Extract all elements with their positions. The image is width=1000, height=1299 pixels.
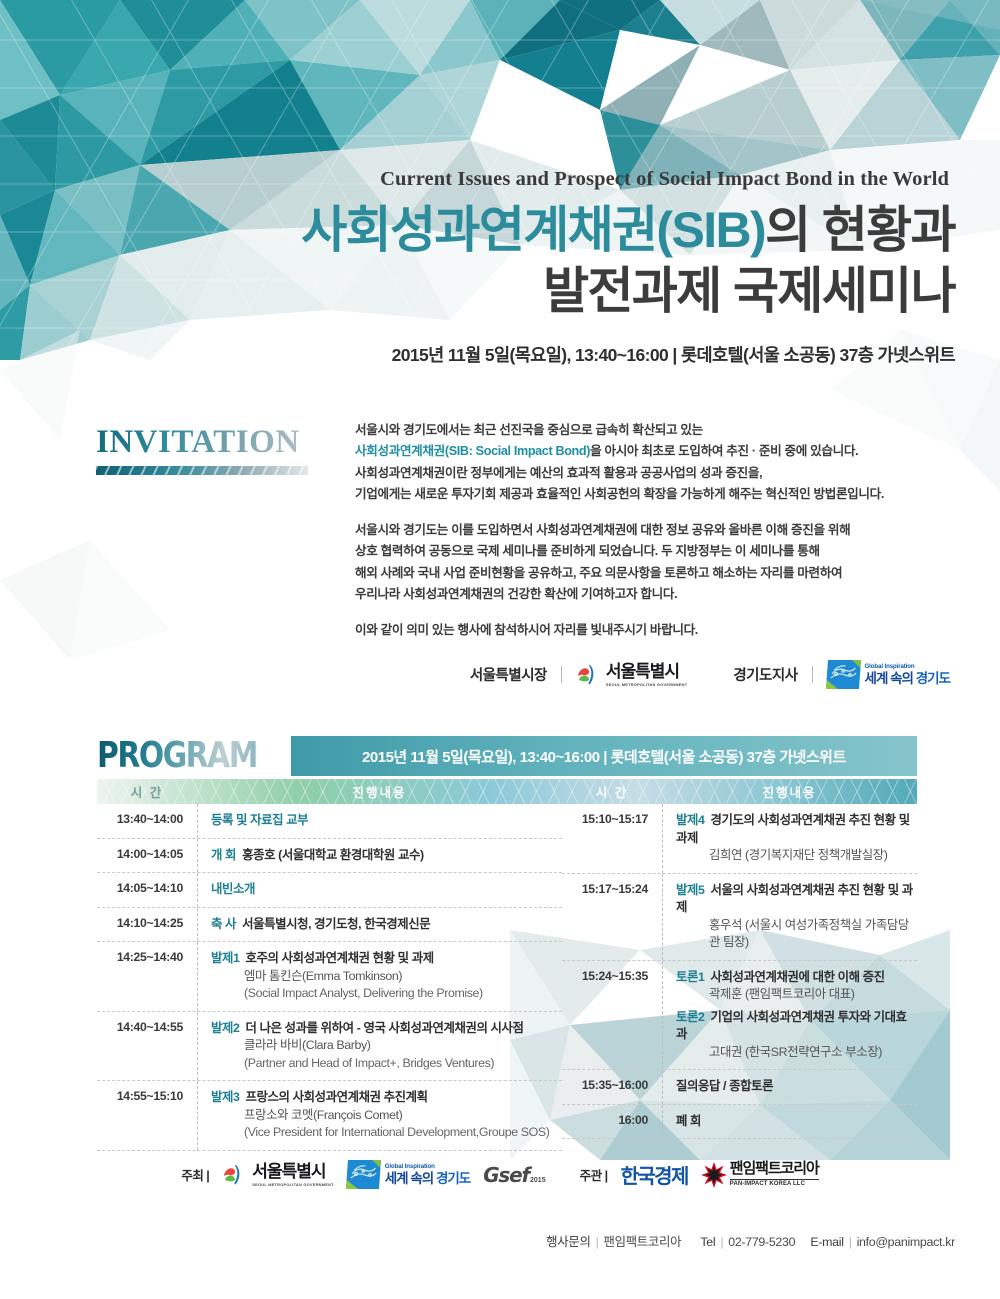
gyeonggi-logo-kr: 세계 속의 경기도 [865, 672, 950, 686]
program-row-title: 호주의 사회성과연계채권 현황 및 과제 [246, 951, 434, 965]
program-row: 15:35~16:00질의응답 / 종합토론 [562, 1070, 917, 1105]
event-datetime-venue: 2015년 11월 5일(목요일), 13:40~16:00 | 롯데호텔(서울… [0, 342, 955, 367]
col-header-content-left: 진행내용 [197, 782, 562, 801]
program-row-lead-2: 토론2 [676, 1010, 708, 1024]
program-row: 13:40~14:00등록 및 자료집 교부 [97, 804, 562, 839]
inv-p2-l1: 서울시와 경기도는 이를 도입하면서 사회성과연계채권에 대한 정보 공유와 올… [355, 523, 850, 537]
program-row: 14:25~14:40발제1 호주의 사회성과연계채권 현황 및 과제엠마 톰킨… [97, 942, 562, 1012]
program-row-content: 폐 회 [662, 1105, 917, 1139]
program-row: 15:10~15:17발제4 경기도의 사회성과연계채권 추진 현황 및 과제김… [562, 804, 917, 874]
contact-label: 행사문의 [546, 1235, 590, 1249]
inv-p1-highlight: 사회성과연계채권(SIB: Social Impact Bond) [355, 444, 590, 458]
program-row-title-line: 등록 및 자료집 교부 [211, 812, 558, 830]
program-row: 14:40~14:55발제2 더 나은 성과를 위하여 - 영국 사회성과연계채… [97, 1012, 562, 1082]
seoul-emblem-icon [576, 663, 602, 687]
program-row-title: 내빈소개 [211, 882, 255, 896]
program-row-content: 내빈소개 [197, 873, 562, 907]
program-row-content: 축 사 서울특별시청, 경기도청, 한국경제신문 [197, 908, 562, 942]
signature-seoul-mayor: 서울특별시장 [470, 664, 547, 685]
program-row-speaker: 클라라 바비(Clara Barby) [211, 1037, 558, 1055]
organizer-label: 주관 | [580, 1165, 608, 1184]
invitation-heading: INVITATION [96, 424, 326, 461]
program-row-title: 홍종호 (서울대학교 환경대학원 교수) [242, 848, 424, 862]
title-line-2: 발전과제 국제세미나 [0, 261, 955, 322]
program-row-content: 발제4 경기도의 사회성과연계채권 추진 현황 및 과제김희연 (경기복지재단 … [662, 804, 917, 873]
program-row: 14:55~15:10발제3 프랑스의 사회성과연계채권 추진계획프랑소와 코멧… [97, 1081, 562, 1151]
inv-p1-l4: 기업에게는 새로운 투자기회 제공과 효율적인 사회공헌의 확장을 가능하게 해… [355, 487, 884, 501]
invitation-paragraph-3: 이와 같이 의미 있는 행사에 참석하시어 자리를 빛내주시기 바랍니다. [355, 620, 947, 641]
program-row-content: 등록 및 자료집 교부 [197, 804, 562, 838]
gyeonggi-emblem-icon [346, 1160, 381, 1189]
header-block: Current Issues and Prospect of Social Im… [0, 168, 955, 367]
hankyung-logo: 한국경제 [621, 1160, 688, 1189]
seoul-logo-en: SEOUL METROPOLITAN GOVERNMENT [606, 683, 687, 687]
gyeonggi-emblem-icon [826, 660, 861, 689]
program-row-title-line: 발제4 경기도의 사회성과연계채권 추진 현황 및 과제 [676, 812, 913, 847]
program-table-header: 시 간 진행내용 시 간 진행내용 [97, 779, 917, 804]
panimpact-en: PAN-IMPACT KOREA LLC [730, 1179, 819, 1187]
seoul-city-logo: 서울특별시 SEOUL METROPOLITAN GOVERNMENT [576, 663, 687, 687]
signature-gyeonggi-governor: 경기도지사 [733, 664, 797, 685]
email-value: info@panimpact.kr [857, 1235, 955, 1249]
program-row-title: 서울특별시청, 경기도청, 한국경제신문 [242, 917, 430, 931]
program-datetime-bar: 2015년 11월 5일(목요일), 13:40~16:00 | 롯데호텔(서울… [291, 736, 917, 776]
inv-p1-l2b: 을 아시아 최초로 도입하여 추진 · 준비 중에 있습니다. [590, 444, 858, 458]
contact-line: 행사문의|팬임팩트코리아 Tel|02-779-5230 E-mail|info… [0, 1232, 955, 1250]
footer-gg-kr-b: 경기도 [436, 1171, 470, 1186]
inv-p2-l4: 우리나라 사회성과연계채권의 건강한 확산에 기여하고자 합니다. [355, 587, 677, 601]
seoul-emblem-icon [222, 1163, 248, 1187]
program-row-title: 사회성과연계채권에 대한 이해 증진 [711, 970, 885, 984]
col-header-time-right: 시 간 [562, 782, 662, 801]
tel-value: 02-779-5230 [728, 1235, 795, 1249]
program-row: 14:00~14:05개 회 홍종호 (서울대학교 환경대학원 교수) [97, 839, 562, 874]
program-row: 16:00폐 회 [562, 1105, 917, 1140]
program-row-affiliation: (Vice President for International Develo… [211, 1124, 558, 1142]
program-row-title-line: 축 사 서울특별시청, 경기도청, 한국경제신문 [211, 916, 558, 934]
program-row-title: 더 나은 성과를 위하여 - 영국 사회성과연계채권의 시사점 [246, 1021, 524, 1035]
program-row-content: 발제1 호주의 사회성과연계채권 현황 및 과제엠마 톰킨슨(Emma Tomk… [197, 942, 562, 1011]
invitation-underline-bar [96, 466, 308, 475]
footer-seoul-logo: 서울특별시 SEOUL METROPOLITAN GOVERNMENT [222, 1163, 333, 1187]
program-row-speaker: 홍우석 (서울시 여성가족정책실 가족담당관 팀장) [676, 917, 913, 952]
inv-p2-l2: 상호 협력하여 공동으로 국제 세미나를 준비하게 되었습니다. 두 지방정부는… [355, 544, 820, 558]
program-row-speaker: 곽제훈 (팬임팩트코리아 대표) [676, 986, 913, 1004]
program-row-title-line: 발제5 서울의 사회성과연계채권 추진 현황 및 과제 [676, 882, 913, 917]
program-row-time: 14:00~14:05 [97, 839, 197, 869]
program-row-speaker: 프랑소와 코멧(François Comet) [211, 1107, 558, 1125]
program-row-time: 14:10~14:25 [97, 908, 197, 938]
program-row-title-line: 내빈소개 [211, 881, 558, 899]
program-title: PROGRAM [97, 736, 266, 776]
divider [812, 666, 813, 683]
program-row-content: 발제5 서울의 사회성과연계채권 추진 현황 및 과제홍우석 (서울시 여성가족… [662, 874, 917, 960]
footer-gg-kr-a: 세계 속의 [385, 1171, 436, 1186]
program-row-time: 16:00 [562, 1105, 662, 1135]
program-row-speaker: 김희연 (경기복지재단 정책개발실장) [676, 847, 913, 865]
program-row-title-2: 기업의 사회성과연계채권 투자와 기대효과 [676, 1010, 907, 1042]
panimpact-star-icon [701, 1162, 727, 1188]
program-table: 13:40~14:00등록 및 자료집 교부14:00~14:05개 회 홍종호… [97, 804, 917, 1151]
program-row-time: 15:17~15:24 [562, 874, 662, 904]
panimpact-kr: 팬임팩트코리아 [730, 1160, 819, 1177]
program-row-title: 서울의 사회성과연계채권 추진 현황 및 과제 [676, 883, 913, 915]
gg-kr-b: 경기도 [916, 671, 950, 686]
program-row-lead: 축 사 [211, 917, 239, 931]
program-row-lead: 발제2 [211, 1021, 243, 1035]
program-row-content: 질의응답 / 종합토론 [662, 1070, 917, 1104]
program-row-time: 14:25~14:40 [97, 942, 197, 972]
program-row-time: 15:35~16:00 [562, 1070, 662, 1100]
title-rest: 의 현황과 [765, 202, 955, 258]
program-header: PROGRAM 2015년 11월 5일(목요일), 13:40~16:00 |… [97, 736, 917, 776]
gg-kr-a: 세계 속의 [865, 671, 916, 686]
footer-gg-tagline: Global Inspiration [385, 1164, 470, 1170]
divider [561, 666, 562, 683]
program-row-lead: 발제5 [676, 883, 708, 897]
program-row-lead: 개 회 [211, 848, 239, 862]
program-row-speaker-2: 고대권 (한국SR전략연구소 부소장) [676, 1044, 913, 1062]
program-row-title-line: 질의응답 / 종합토론 [676, 1078, 913, 1096]
program-row-time: 14:40~14:55 [97, 1012, 197, 1042]
gyeonggi-logo-text: Global Inspiration 세계 속의 경기도 [865, 664, 950, 686]
inv-p2-l3: 해외 사례와 국내 사업 준비현황을 공유하고, 주요 의문사항을 토론하고 해… [355, 566, 842, 580]
program-row-lead: 토론1 [676, 970, 708, 984]
col-header-content-right: 진행내용 [662, 782, 917, 801]
footer-gg-kr: 세계 속의 경기도 [385, 1172, 470, 1186]
program-row-title-line: 발제3 프랑스의 사회성과연계채권 추진계획 [211, 1089, 558, 1107]
program-row-title: 질의응답 / 종합토론 [676, 1079, 773, 1093]
program-row-lead: 발제4 [676, 813, 708, 827]
program-row-time: 15:10~15:17 [562, 804, 662, 834]
program-row-lead: 발제3 [211, 1090, 243, 1104]
program-column-right: 15:10~15:17발제4 경기도의 사회성과연계채권 추진 현황 및 과제김… [562, 804, 917, 1151]
gyeonggi-logo-tagline: Global Inspiration [865, 664, 950, 670]
program-row-affiliation: (Partner and Head of Impact+, Bridges Ve… [211, 1055, 558, 1073]
program-row-speaker: 엠마 톰킨슨(Emma Tomkinson) [211, 968, 558, 986]
gyeonggi-province-logo: Global Inspiration 세계 속의 경기도 [827, 660, 950, 689]
program-column-left: 13:40~14:00등록 및 자료집 교부14:00~14:05개 회 홍종호… [97, 804, 562, 1151]
seoul-logo-text: 서울특별시 SEOUL METROPOLITAN GOVERNMENT [606, 663, 687, 687]
signature-row: 서울특별시장 서울특별시 SEOUL METROPOLITAN GOVERNME… [0, 660, 950, 689]
seoul-logo-kr: 서울특별시 [606, 662, 679, 681]
gsef-logo: Gsef 2015 [483, 1163, 545, 1187]
program-row-time: 14:55~15:10 [97, 1081, 197, 1111]
gsef-year: 2015 [530, 1177, 546, 1187]
program-row-content: 발제2 더 나은 성과를 위하여 - 영국 사회성과연계채권의 시사점클라라 바… [197, 1012, 562, 1081]
page-title: 사회성과연계채권(SIB)의 현황과 발전과제 국제세미나 [0, 200, 955, 322]
footer-gyeonggi-logo: Global Inspiration 세계 속의 경기도 [347, 1160, 470, 1189]
inv-p1-l1: 서울시와 경기도에서는 최근 선진국을 중심으로 급속히 확산되고 있는 [355, 423, 703, 437]
footer-logos: 주최 | 서울특별시 SEOUL METROPOLITAN GOVERNMENT [0, 1160, 1000, 1189]
program-row-title: 등록 및 자료집 교부 [211, 813, 308, 827]
title-highlight: 사회성과연계채권(SIB) [301, 202, 765, 258]
host-label: 주최 | [181, 1165, 209, 1184]
footer-gyeonggi-text: Global Inspiration 세계 속의 경기도 [385, 1164, 470, 1186]
program-row-content: 개 회 홍종호 (서울대학교 환경대학원 교수) [197, 839, 562, 873]
footer-seoul-text: 서울특별시 SEOUL METROPOLITAN GOVERNMENT [252, 1163, 333, 1187]
invitation-body: 서울시와 경기도에서는 최근 선진국을 중심으로 급속히 확산되고 있는 사회성… [355, 420, 947, 642]
program-row-title: 프랑스의 사회성과연계채권 추진계획 [246, 1090, 428, 1104]
program-row-title-line: 개 회 홍종호 (서울대학교 환경대학원 교수) [211, 847, 558, 865]
footer-seoul-en: SEOUL METROPOLITAN GOVERNMENT [252, 1183, 333, 1187]
program-row-content: 토론1 사회성과연계채권에 대한 이해 증진곽제훈 (팬임팩트코리아 대표)토론… [662, 961, 917, 1070]
program-row-content: 발제3 프랑스의 사회성과연계채권 추진계획프랑소와 코멧(François C… [197, 1081, 562, 1150]
program-row: 15:17~15:24발제5 서울의 사회성과연계채권 추진 현황 및 과제홍우… [562, 874, 917, 961]
program-row-time: 15:24~15:35 [562, 961, 662, 991]
col-header-time-left: 시 간 [97, 782, 197, 801]
program-row-title: 폐 회 [676, 1114, 701, 1128]
program-row-title-line-2: 토론2 기업의 사회성과연계채권 투자와 기대효과 [676, 1009, 913, 1044]
program-row-title-line: 폐 회 [676, 1113, 913, 1131]
footer-seoul-kr: 서울특별시 [252, 1162, 325, 1181]
email-label: E-mail [810, 1235, 843, 1249]
program-row-title: 경기도의 사회성과연계채권 추진 현황 및 과제 [676, 813, 910, 845]
panimpact-text: 팬임팩트코리아 PAN-IMPACT KOREA LLC [730, 1161, 819, 1187]
panimpact-logo: 팬임팩트코리아 PAN-IMPACT KOREA LLC [701, 1161, 819, 1187]
program-row-time: 14:05~14:10 [97, 873, 197, 903]
program-row-title-line: 토론1 사회성과연계채권에 대한 이해 증진 [676, 969, 913, 987]
program-row: 14:05~14:10내빈소개 [97, 873, 562, 908]
invitation-heading-block: INVITATION [96, 424, 326, 475]
contact-org: 팬임팩트코리아 [604, 1235, 682, 1249]
program-row: 14:10~14:25축 사 서울특별시청, 경기도청, 한국경제신문 [97, 908, 562, 943]
program-row-time: 13:40~14:00 [97, 804, 197, 834]
program-row-affiliation: (Social Impact Analyst, Delivering the P… [211, 985, 558, 1003]
inv-p1-l3: 사회성과연계채권이란 정부에게는 예산의 효과적 활용과 공공사업의 성과 증진… [355, 466, 762, 480]
program-row-title-line: 발제1 호주의 사회성과연계채권 현황 및 과제 [211, 950, 558, 968]
poster-root: Current Issues and Prospect of Social Im… [0, 0, 1000, 1299]
invitation-paragraph-1: 서울시와 경기도에서는 최근 선진국을 중심으로 급속히 확산되고 있는 사회성… [355, 420, 947, 505]
invitation-paragraph-2: 서울시와 경기도는 이를 도입하면서 사회성과연계채권에 대한 정보 공유와 올… [355, 520, 947, 605]
program-row-lead: 발제1 [211, 951, 243, 965]
gsef-wordmark: Gsef [483, 1163, 529, 1187]
tel-label: Tel [700, 1235, 715, 1249]
eyebrow-subtitle: Current Issues and Prospect of Social Im… [0, 168, 955, 191]
program-row-title-line: 발제2 더 나은 성과를 위하여 - 영국 사회성과연계채권의 시사점 [211, 1020, 558, 1038]
program-row: 15:24~15:35토론1 사회성과연계채권에 대한 이해 증진곽제훈 (팬임… [562, 961, 917, 1071]
